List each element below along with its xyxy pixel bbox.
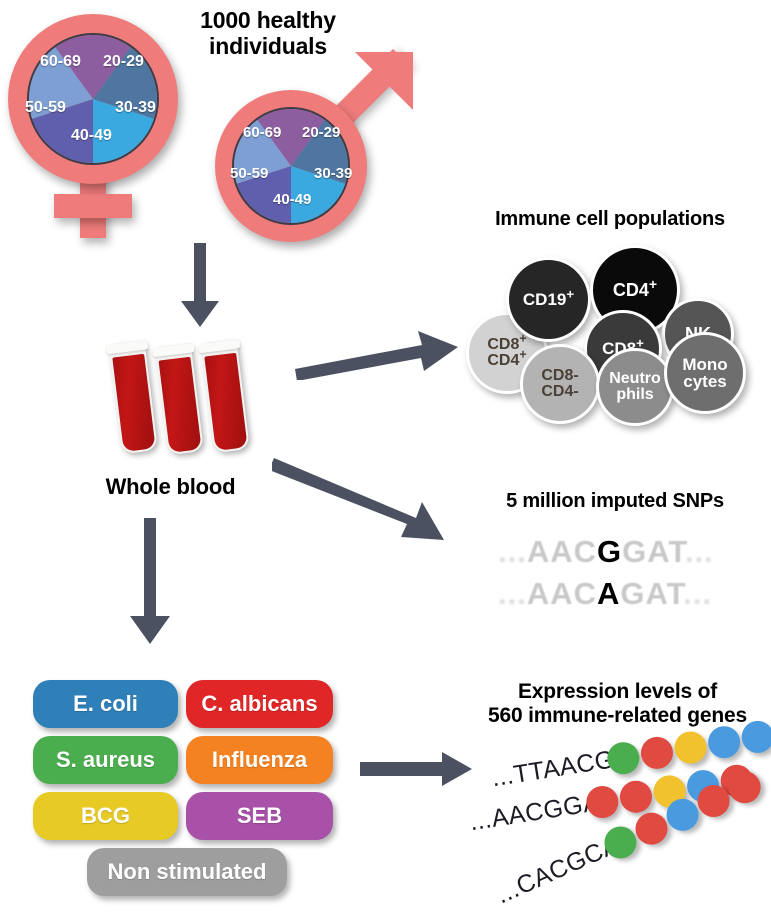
stimulus-e-coli[interactable]: E. coli [33,680,178,728]
arrow-blood-to-immune [293,325,463,380]
arrow-cohort-to-blood [175,243,225,329]
snp-trail-ellipsis: ... [683,576,712,611]
expression-title-line2: 560 immune-related genes [470,704,765,728]
cell-label: Neutrophils [609,371,661,404]
pie-label-50-59: 50-59 [25,99,66,117]
immune-cell-cluster: CD8+CD4+ CD19+ CD4+ NK CD8+ CD8-CD4- Neu… [462,240,762,420]
cell-cd8neg-cd4neg: CD8-CD4- [520,344,600,424]
expression-bead [618,778,655,815]
stimulus-bcg[interactable]: BCG [33,792,178,840]
stimulus-seb[interactable]: SEB [186,792,333,840]
cell-monocytes: Monocytes [664,332,746,414]
whole-blood-group [118,338,278,458]
female-symbol-crossbar [54,194,132,218]
snp-prefix: AAC [527,576,597,611]
stimulus-c-albicans[interactable]: C. albicans [186,680,333,728]
pie-label-40-49: 40-49 [71,127,112,145]
tube-blood [159,357,202,453]
pie-label-20-29: 20-29 [302,124,340,141]
tube-blood [204,353,247,451]
cell-label: CD4+ [613,281,657,299]
cell-label: CD8+CD4+ [487,337,526,370]
expression-bead [639,735,676,772]
female-symbol: 20-29 30-39 40-49 50-59 60-69 [8,14,198,242]
pie-label-60-69: 60-69 [40,53,81,71]
expression-bead [739,719,771,756]
pie-label-30-39: 30-39 [115,99,156,117]
pie-label-20-29: 20-29 [103,53,144,71]
stimuli-group: E. coli C. albicans S. aureus Influenza … [33,680,333,895]
snp-variant-allele: A [597,576,620,611]
snp-sequence-row: ...AACGGAT... [498,534,714,570]
snps-title: 5 million imputed SNPs [470,490,760,512]
tube-blood [112,354,155,452]
snp-prefix: AAC [527,534,597,569]
snp-sequence-row: ...AACAGAT... [498,576,712,612]
male-symbol: 20-29 30-39 40-49 50-59 60-69 [205,48,420,248]
pie-label-30-39: 30-39 [314,165,352,182]
cell-label: CD8-CD4- [541,368,578,401]
cell-cd19pos: CD19+ [506,257,591,342]
arrow-blood-to-snps [272,432,472,547]
expression-bead [672,729,709,766]
immune-title: Immune cell populations [460,208,760,230]
pie-label-50-59: 50-59 [230,165,268,182]
snp-lead-ellipsis: ... [498,534,527,569]
whole-blood-label: Whole blood [88,475,253,500]
cell-label: Monocytes [682,356,727,391]
snp-trail-ellipsis: ... [685,534,714,569]
cell-label: CD19+ [523,291,574,308]
cell-neutrophils: Neutrophils [596,348,674,426]
arrow-blood-to-stimuli [125,518,175,646]
blood-tube [201,340,250,454]
expression-title: Expression levels of 560 immune-related … [470,680,765,727]
snp-suffix: GAT [620,576,683,611]
expression-strands: ...TTAACGG ...AACGGAT ...CACGCAA [470,740,771,910]
stimulus-influenza[interactable]: Influenza [186,736,333,784]
blood-tube [109,341,158,455]
pie-label-60-69: 60-69 [243,124,281,141]
snp-lead-ellipsis: ... [498,576,527,611]
expression-title-line1: Expression levels of [470,680,765,704]
blood-tube [155,344,204,456]
expression-bead [706,724,743,761]
stimulus-s-aureus[interactable]: S. aureus [33,736,178,784]
arrow-stimuli-to-expression [360,752,475,792]
stimulus-non-stimulated[interactable]: Non stimulated [87,848,287,896]
pie-label-40-49: 40-49 [273,191,311,208]
snp-variant-allele: G [597,534,622,569]
snp-suffix: GAT [622,534,685,569]
